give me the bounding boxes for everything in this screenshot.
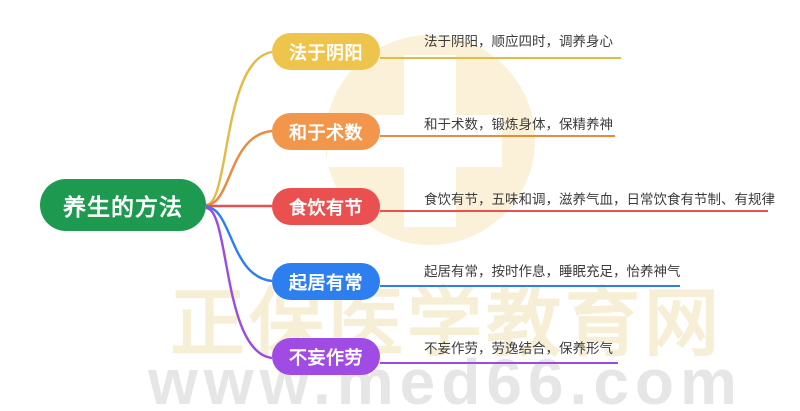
leaf-text-heyushushu: 和于术数，锻炼身体，保精养神 [424,118,613,132]
connector-branch-0 [206,52,272,205]
connector-branch-4 [206,208,272,358]
branch-node-qijuyouchang[interactable]: 起居有常 [272,263,380,300]
branch-node-label: 起居有常 [289,269,363,295]
leaf-text-buwangzuolao: 不妄作劳，劳逸结合，保养形气 [424,342,613,356]
branch-node-label: 不妄作劳 [289,344,363,370]
branch-node-buwangzuolao[interactable]: 不妄作劳 [272,338,380,375]
branch-node-heyushushu[interactable]: 和于术数 [272,113,380,150]
branch-node-fayuyinyang[interactable]: 法于阴阳 [272,33,380,70]
leaf-text-fayuyinyang: 法于阴阳，顺应四时，调养身心 [424,35,613,49]
branch-node-label: 法于阴阳 [289,39,363,65]
branch-node-label: 和于术数 [289,119,363,145]
leaf-text-qijuyouchang: 起居有常，按时作息，睡眠充足，怡养神气 [424,265,681,279]
mindmap-canvas: 正保医学教育网 www.med66.com 养生的方法 法于阴阳 和于术数 食饮… [0,0,800,411]
branch-node-label: 食饮有节 [289,194,363,220]
root-node-label: 养生的方法 [63,188,183,222]
leaf-text-shiyinyoujie: 食饮有节，五味和调，滋养气血，日常饮食有节制、有规律 [424,193,775,207]
root-node[interactable]: 养生的方法 [40,179,206,231]
branch-node-shiyinyoujie[interactable]: 食饮有节 [272,188,380,225]
